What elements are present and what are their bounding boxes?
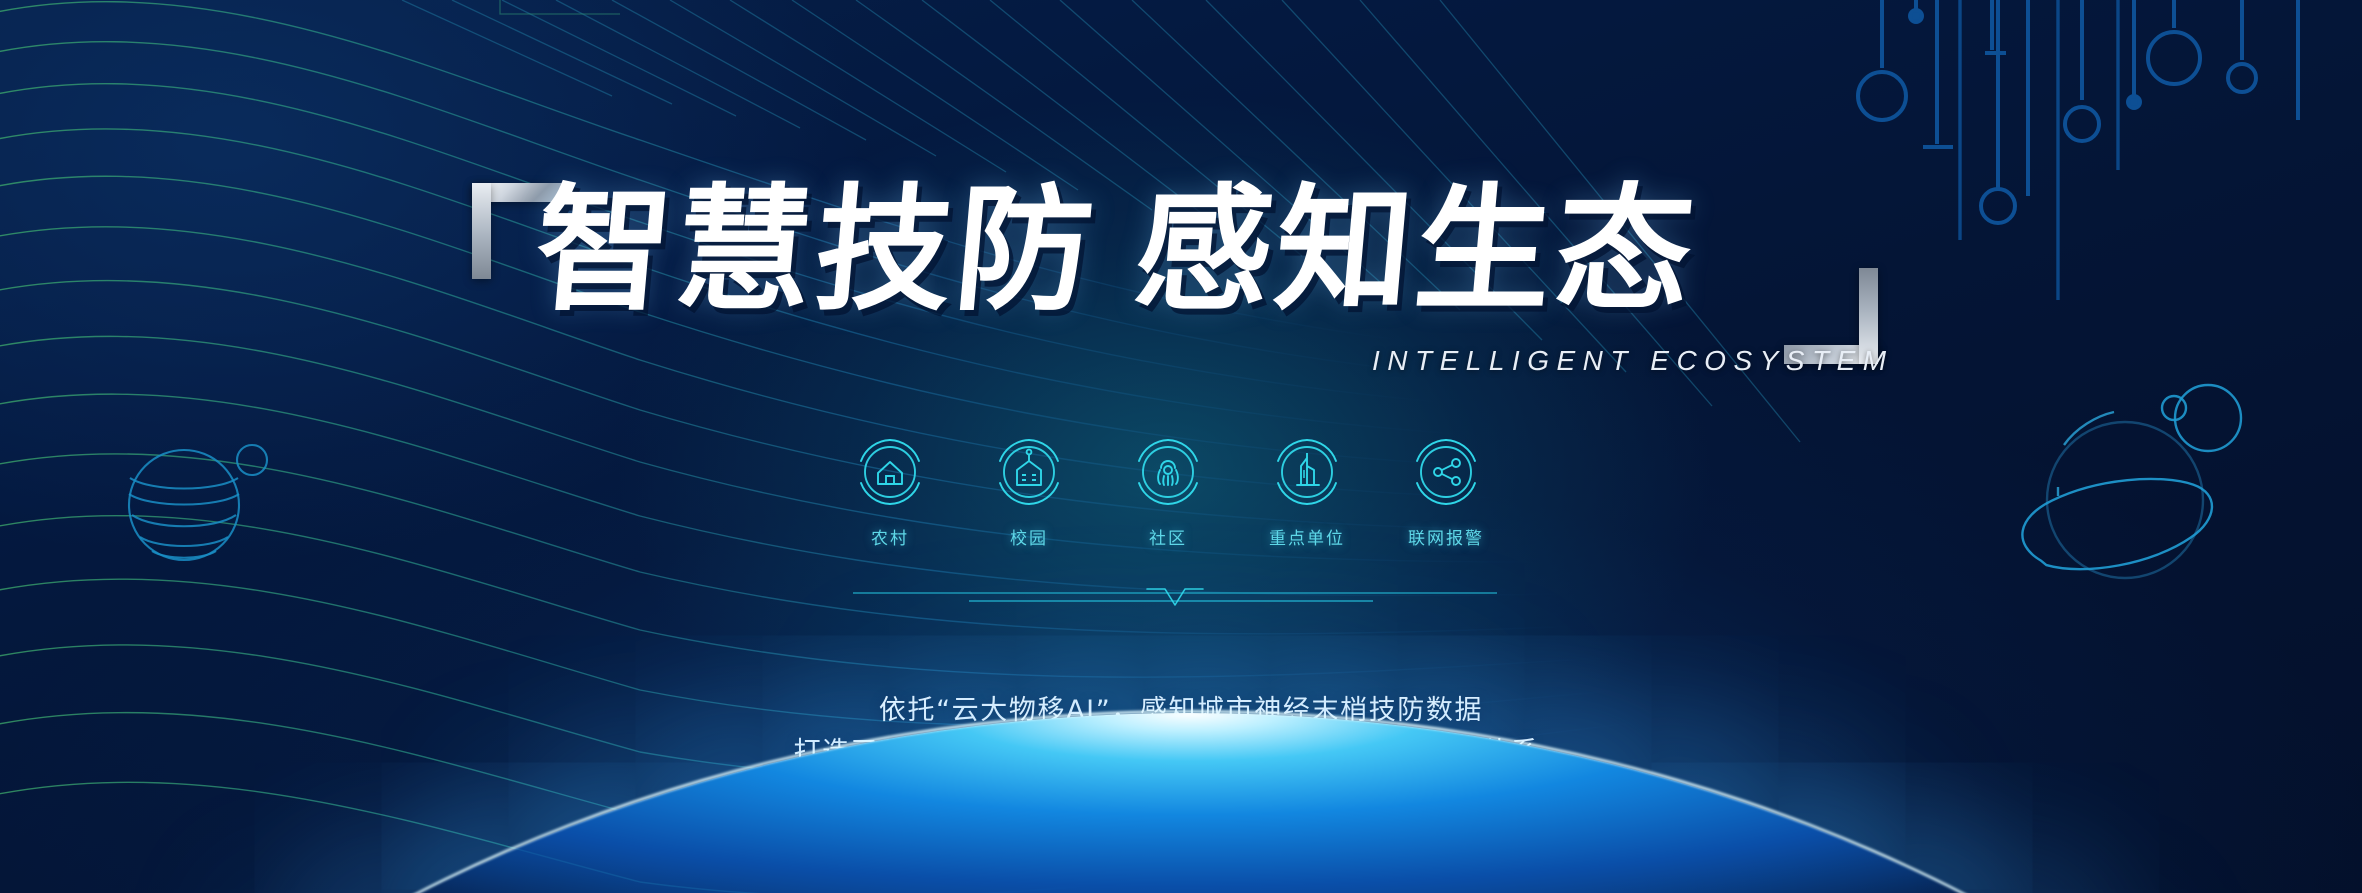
school-building-icon <box>993 436 1065 508</box>
category-item-network-alarm[interactable]: 联网报警 <box>1394 436 1498 549</box>
section-divider <box>845 585 1505 611</box>
category-label: 重点单位 <box>1269 524 1345 549</box>
headline-part-1: 智慧技防 <box>529 172 1103 330</box>
category-label: 农村 <box>871 524 909 549</box>
category-item-community[interactable]: 社区 <box>1116 436 1220 549</box>
house-icon <box>854 436 926 508</box>
headline-part-2: 感知生态 <box>1129 172 1703 330</box>
skyscraper-icon <box>1271 436 1343 508</box>
category-label: 社区 <box>1149 524 1187 549</box>
page-title: 智慧技防感知生态 <box>530 183 1862 319</box>
community-people-icon <box>1132 436 1204 508</box>
bracket-top-left-vertical <box>472 183 491 279</box>
category-label: 校园 <box>1010 524 1048 549</box>
category-item-rural[interactable]: 农村 <box>838 436 942 549</box>
english-subtitle: INTELLIGENT ECOSYSTEM <box>1372 345 1894 377</box>
category-item-key-units[interactable]: 重点单位 <box>1255 436 1359 549</box>
category-icon-row: 农村 校园 <box>838 436 1498 549</box>
category-label: 联网报警 <box>1408 524 1484 549</box>
network-share-icon <box>1410 436 1482 508</box>
category-item-campus[interactable]: 校园 <box>977 436 1081 549</box>
banner-stage: 智慧技防感知生态 INTELLIGENT ECOSYSTEM 农村 <box>0 0 2362 893</box>
